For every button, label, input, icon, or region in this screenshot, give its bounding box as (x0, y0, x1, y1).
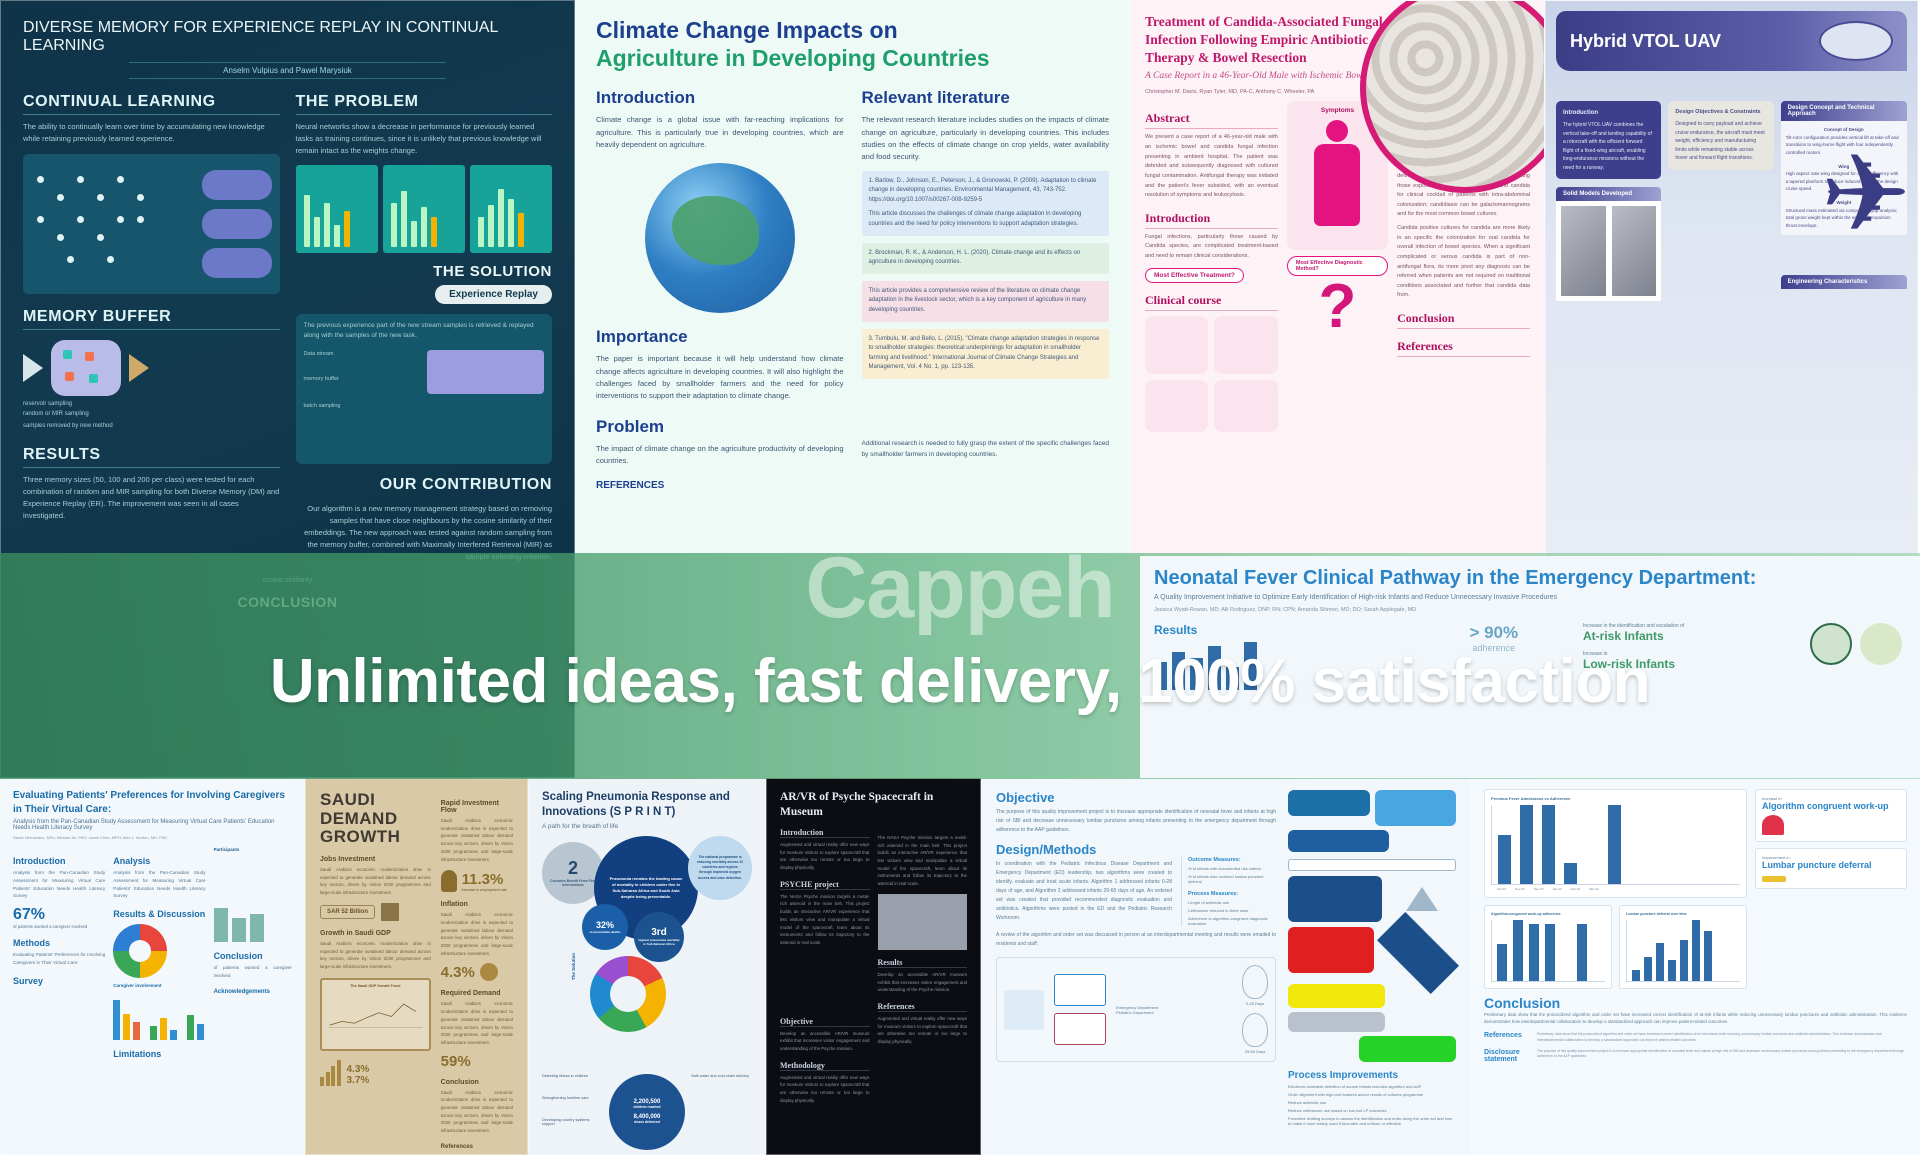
memory-out-label: random or MIR sampling (23, 410, 280, 420)
section-continual-learning: CONTINUAL LEARNING The ability to contin… (23, 93, 280, 563)
list-item: % of infants who received lumbar punctur… (1188, 874, 1276, 884)
icon-label: Detecting illness in children (542, 1074, 603, 1078)
section-body: Analysis from the Pan-Canadian Study Ass… (113, 869, 205, 900)
section-body: Evaluating Patients' Preferences for Inv… (13, 951, 105, 967)
chart-title: Previous Fever Admissions vs Adherence (1491, 796, 1740, 801)
stat-value: 59% (441, 1053, 513, 1070)
poster-arvr-psyche[interactable]: AR/VR of Psyche Spacecraft in Museum Int… (766, 778, 981, 1155)
airplane-icon: ✈ (1821, 151, 1912, 237)
memory-removed-label: samples removed by new method (23, 422, 280, 432)
section-heading: CONTINUAL LEARNING (23, 93, 280, 115)
section-heading: Clinical course (1145, 293, 1278, 311)
university-seal-icon (1819, 21, 1893, 61)
icon-label: Strengthening frontline care (542, 1096, 603, 1100)
reference-list: Preliminary data show that the protocoli… (1537, 1032, 1907, 1044)
section-heading: References (878, 1002, 968, 1012)
column-left: Abstract We present a case report of a 4… (1145, 101, 1278, 431)
section-body: Develop an accessible AR/VR museum exhib… (780, 1030, 870, 1053)
memory-in-label: reservoir sampling (23, 400, 280, 410)
stat-label: children reached (633, 1105, 660, 1109)
section-body: The ability to continually learn over ti… (23, 121, 280, 145)
section-heading: Methods (13, 938, 105, 948)
pipeline-diagram: The previous experience part of the new … (296, 314, 553, 464)
column-mid: Symptoms Most Effective Diagnostic Metho… (1287, 101, 1388, 431)
section-heading: THE SOLUTION (296, 263, 553, 280)
section-heading: Importance (596, 327, 844, 347)
person-icon (441, 870, 457, 892)
flow-node-caution (1288, 984, 1385, 1008)
list-item: % of infants with documented risk criter… (1188, 866, 1276, 871)
chart-lp-deferral: Lumbar puncture deferral over time (1619, 905, 1747, 989)
poster-title: SAUDI DEMAND GROWTH (320, 791, 431, 847)
subheading: Outcome Measures: (1188, 857, 1276, 863)
section-heading: Conclusion (441, 1079, 513, 1086)
flow-node-high-risk (1288, 927, 1374, 973)
age-band-label: 0-28 Days (1242, 1001, 1268, 1006)
section-heading: Survey (13, 976, 105, 986)
stat-value: 3.7% (347, 1075, 370, 1086)
section-body: of patients wanted a caregiver involved (214, 964, 292, 980)
subheading: Caregiver involvement (113, 983, 205, 988)
list-item: Order alignment with high-risk features … (1288, 1092, 1456, 1097)
line-chart: The Saudi GDP Growth Trend (320, 978, 431, 1051)
pie-chart (113, 924, 167, 978)
section-heading: Design Concept and Technical Approach (1781, 101, 1907, 121)
card-lumbar-puncture: Improvement in Lumbar puncture deferral (1755, 848, 1907, 888)
subheading: Process Measures: (1188, 891, 1276, 897)
section-body: Saudi Arabia's economic modernization dr… (441, 1000, 513, 1046)
poster-authors: Jessica Wyatt-Rowan, MD; Alli Rodriguez,… (1154, 607, 1906, 613)
section-heading: Design Objectives & Constraints (1675, 108, 1766, 117)
poster-neonatal-fever-main[interactable]: Objective The purpose of this quality im… (981, 778, 1471, 1155)
section-the-problem: THE PROBLEM Neural networks show a decre… (296, 93, 553, 563)
section-heading: Required Demand (441, 990, 513, 997)
reference-citation: 3. Tumbulu, M. and Bello, L. (2015). "Cl… (869, 335, 1103, 373)
section-heading: THE PROBLEM (296, 93, 553, 115)
poster-authors: Anselm Vulpius and Pawel Marysiuk (129, 62, 446, 79)
symptoms-panel: Symptoms (1287, 101, 1388, 250)
section-body: Saudi Arabia's economic modernization dr… (441, 911, 513, 957)
reference-entry: This article provides a comprehensive re… (862, 281, 1110, 322)
section-body: Saudi Arabia's economic modernization dr… (320, 940, 431, 971)
stat-value: 32% (596, 920, 614, 930)
section-heading: Conclusion (1397, 311, 1530, 329)
section-heading: MEMORY BUFFER (23, 308, 280, 330)
pathway-diagram: Emergency Department Pediatric Departmen… (996, 957, 1276, 1062)
flow-node (1288, 830, 1389, 852)
reference-note: This article provides a comprehensive re… (869, 287, 1103, 316)
poster-caregiver-preferences[interactable]: Evaluating Patients' Preferences for Inv… (0, 778, 305, 1155)
section-heading: Process Improvements (1288, 1070, 1456, 1081)
list-item: Reduce ceftriaxone use based on low-risk… (1288, 1108, 1456, 1113)
question-mark-icon: ? (1287, 276, 1388, 338)
task-bar-charts (296, 165, 553, 253)
poster-saudi-demand-growth[interactable]: SAUDI DEMAND GROWTH Jobs Investment Saud… (305, 778, 528, 1155)
section-heading: Acknowledgements (214, 989, 292, 995)
age-band-label: 29-60 Days (1242, 1049, 1268, 1054)
decision-icon (1406, 887, 1438, 911)
poster-title-line2: Agriculture in Developing Countries (596, 45, 1109, 73)
section-heading: Results (878, 958, 968, 968)
reference-citation: 2. Brockman, R. K., & Anderson, H. L. (2… (869, 249, 1103, 268)
section-heading: Introduction (1145, 211, 1278, 229)
poster-title-line2: Innovations (S P R I N T) (542, 805, 752, 820)
section-body: The NASA Psyche mission targets a metal-… (780, 893, 870, 947)
section-body: Analysis from the Pan-Canadian Study Ass… (13, 869, 105, 900)
network-diagram (23, 154, 280, 294)
section-heading: Growth in Saudi GDP (320, 930, 431, 937)
memory-buffer-label: memory buffer (304, 375, 421, 384)
column-left: Introduction Climate change is a global … (596, 88, 844, 496)
arrow-icon (23, 354, 43, 382)
question-tag-treatment[interactable]: Most Effective Treatment? (1145, 268, 1244, 283)
footer-note: Additional research is needed to fully g… (862, 439, 1110, 460)
section-heading: Disclosure statement (1484, 1049, 1530, 1063)
section-body: Augmented and virtual reality offer new … (780, 841, 870, 872)
stat-label: highest pneumonia mortality in Sub-Sahar… (634, 938, 684, 946)
section-body: Saudi Arabia's economic modernization dr… (320, 866, 431, 897)
section-body: Fungal infections, particularly those ca… (1145, 233, 1278, 262)
section-heading: Limitations (113, 1049, 205, 1059)
section-heading: Relevant literature (862, 88, 1110, 108)
poster-title: Hybrid VTOL UAV (1570, 31, 1721, 52)
flow-note (1288, 859, 1456, 871)
card-title: Lumbar puncture deferral (1762, 860, 1900, 870)
institution-seal-2 (1860, 623, 1902, 665)
mini-chart (296, 165, 378, 253)
section-heading: Results & Discussion (113, 909, 205, 919)
section-body: Augmented and virtual reality offer new … (878, 1015, 968, 1046)
section-heading: PSYCHE project (780, 880, 870, 890)
section-body: In coordination with the Pediatric Infec… (996, 860, 1172, 923)
introduction-panel: Introduction The hybrid VTOL UAV combine… (1556, 101, 1661, 179)
column-right: Relevant literature The relevant researc… (862, 88, 1110, 496)
chart-admissions: Previous Fever Admissions vs Adherence O… (1484, 789, 1747, 898)
section-body: The hybrid VTOL UAV combines the vertica… (1563, 121, 1654, 172)
chart-title: Lumbar puncture deferral over time (1626, 912, 1740, 916)
disclosure-text: The purpose of this quality improvement … (1537, 1049, 1907, 1063)
section-body: A review of the algorithm and order set … (996, 931, 1276, 949)
section-heading: Inflation (441, 901, 513, 908)
section-body: The relevant research literature include… (862, 114, 1110, 164)
axis-tick: Nov-23 (1515, 887, 1525, 891)
poster-title-line1: Scaling Pneumonia Response and (542, 790, 752, 805)
axis-tick: Feb-24 (1571, 887, 1581, 891)
section-body: Candida positive cultures for candida ar… (1397, 224, 1530, 301)
section-body: Climate change is a global issue with fa… (596, 114, 844, 151)
section-heading: Analysis (113, 856, 205, 866)
list-item: Reduce antibiotic use (1288, 1100, 1456, 1105)
section-heading: REFERENCES (596, 480, 844, 491)
section-body: Neural networks show a decrease in perfo… (296, 121, 553, 157)
section-body: We present a case report of a 46-year-ol… (1145, 133, 1278, 200)
poster-authors: Sarah Hernandez, MSc; Michael Ito, PhD; … (13, 835, 292, 840)
section-body: The previous experience part of the new … (296, 314, 553, 342)
section-heading: References (441, 1144, 513, 1150)
stat-value: 4.3% (441, 964, 475, 981)
icon-label: Developing country systems support (542, 1118, 603, 1126)
data-stream-label: Data stream (304, 350, 421, 359)
section-heading: Objective (780, 1017, 870, 1027)
section-heading: Solid Models Developed (1556, 187, 1661, 201)
section-body: Develop an accessible AR/VR museum exhib… (878, 971, 968, 994)
section-body: The NASA Psyche mission targets a metal-… (878, 834, 968, 888)
section-heading: Design/Methods (996, 842, 1276, 857)
list-item: Pediatric Department (1116, 1010, 1232, 1015)
clinical-card (1145, 380, 1208, 432)
reference-note: This article discusses the challenges of… (869, 210, 1103, 229)
section-body: Saudi Arabia's economic modernization dr… (441, 1089, 513, 1135)
clinical-card (1214, 316, 1277, 374)
section-heading: Conclusion (1484, 995, 1907, 1011)
section-heading: Jobs Investment (320, 856, 431, 863)
human-figure-icon (1298, 120, 1376, 238)
exhibit-photo (878, 894, 968, 950)
section-heading: Engineering Characteristics (1781, 275, 1907, 289)
poster-title: AR/VR of Psyche Spacecraft in Museum (780, 790, 967, 820)
globe-icon (480, 963, 498, 981)
list-item: Electronic orderable definition of sourc… (1288, 1084, 1456, 1089)
ring-label: The Solution (571, 953, 576, 980)
subheading: Participants (214, 847, 292, 852)
poster-gallery-screenshot: DIVERSE MEMORY FOR EXPERIENCE REPLAY IN … (0, 0, 1920, 1155)
poster-row-bottom: Evaluating Patients' Preferences for Inv… (0, 778, 1920, 1155)
stat-value: 3rd (651, 927, 667, 938)
stat-value: 11.3% (462, 871, 507, 888)
qr-icon (381, 903, 399, 921)
institution-seal-1 (1810, 623, 1852, 665)
list-item: Adherence to algorithm-congruent diagnos… (1188, 916, 1276, 926)
cad-render-1 (1560, 205, 1607, 297)
globe-illustration (645, 163, 795, 313)
section-body: Augmented and virtual reality offer new … (780, 1074, 870, 1105)
poster-subtitle: A path for the breath of life (542, 823, 752, 830)
stat-value: 67% (13, 906, 105, 924)
section-heading: References (1484, 1032, 1530, 1044)
clinical-card (1214, 380, 1277, 432)
poster-sprint-pneumonia[interactable]: Scaling Pneumonia Response and Innovatio… (528, 778, 766, 1155)
poster-neonatal-fever-results[interactable]: Previous Fever Admissions vs Adherence O… (1471, 778, 1920, 1155)
section-body: Preliminary data show that the protocoli… (1484, 1011, 1907, 1026)
stat-label: of patients wanted a caregiver involved (13, 924, 105, 929)
section-heading: Objective (996, 790, 1276, 805)
highlight-text: The national programme is reducing morta… (696, 855, 744, 881)
stat-value: > 90% (1419, 623, 1569, 643)
objectives-panel: Design Objectives & Constraints Designed… (1668, 101, 1773, 170)
syringe-icon (1762, 876, 1786, 882)
poster-header: Hybrid VTOL UAV (1556, 11, 1907, 71)
list-item: Ceftriaxone reduced to three uses (1188, 908, 1276, 913)
section-heading: Results (1154, 623, 1405, 637)
clinical-card (1145, 316, 1208, 374)
axis-tick: Dec-23 (1534, 887, 1544, 891)
algorithm-card-2 (1054, 1013, 1106, 1045)
stat-label: doses delivered (634, 1120, 660, 1124)
section-heading: Methodology (780, 1061, 870, 1071)
highlight-text: Pneumonia remains the leading cause of m… (608, 876, 684, 900)
chart-workup: Algorithm-congruent work-up adherence (1484, 905, 1612, 989)
reference-entry: 3. Tumbulu, M. and Bello, L. (2015). "Cl… (862, 329, 1110, 379)
reference-entry: 1. Barlow, D., Johnson, E., Peterson, J.… (862, 171, 1110, 236)
section-heading: Rapid Investment Flow (441, 800, 513, 814)
flow-node (1288, 876, 1382, 922)
section-body: Three memory sizes (50, 100 and 200 per … (23, 474, 280, 522)
infant-icon (1242, 965, 1268, 999)
chart-title: Algorithm-congruent work-up adherence (1491, 912, 1605, 916)
badge-capital: SAR 52 Billion (320, 905, 375, 919)
reference-citation: 1. Barlow, D., Johnson, E., Peterson, J.… (869, 177, 1103, 206)
section-body: Saudi Arabia's economic modernization dr… (441, 817, 513, 863)
cappeh-watermark: Cappeh (805, 539, 1114, 638)
section-heading: Conclusion (214, 951, 292, 961)
poster-title-line1: Climate Change Impacts on (596, 17, 1109, 45)
heart-icon (1762, 815, 1784, 835)
section-body: Designed to carry payload and achieve cr… (1675, 120, 1766, 163)
section-heading: Introduction (13, 856, 105, 866)
section-the-solution: THE SOLUTION Experience Replay (296, 263, 553, 304)
section-body: The paper is important because it will h… (596, 353, 844, 403)
section-heading: Problem (596, 417, 844, 437)
section-heading: RESULTS (23, 446, 280, 468)
mini-chart (470, 165, 552, 253)
list-item: Formative drafting surveys to assess the… (1288, 1116, 1456, 1126)
promo-headline: Unlimited ideas, fast delivery, 100% sat… (270, 646, 1650, 717)
axis-tick: Oct-23 (1497, 887, 1506, 891)
stat-label: of preventable deaths (589, 930, 620, 934)
algorithm-card-1 (1054, 974, 1106, 1006)
ring-chart (590, 956, 666, 1032)
poster-title: DIVERSE MEMORY FOR EXPERIENCE REPLAY IN … (23, 19, 552, 55)
card-algorithm-workup: Increase in Algorithm congruent work-up (1755, 789, 1907, 842)
section-heading: OUR CONTRIBUTION (296, 476, 553, 497)
experience-replay-chip[interactable]: Experience Replay (435, 285, 552, 304)
section-heading: Introduction (596, 88, 844, 108)
flow-node (1375, 790, 1457, 826)
flow-node-neutral (1288, 1012, 1385, 1032)
card-title: Algorithm congruent work-up (1762, 801, 1900, 811)
poster-title: Evaluating Patients' Preferences for Inv… (13, 789, 292, 816)
poster-title: Treatment of Candida-Associated Fungal I… (1145, 13, 1399, 66)
department-icon (1004, 990, 1044, 1030)
chart-svg (326, 988, 425, 1040)
section-body: The impact of climate change on the agri… (596, 443, 844, 468)
section-body: The purpose of this quality improvement … (996, 808, 1276, 835)
icon-label: Safe water and cold-chain delivery (691, 1074, 752, 1078)
list-item: Length of antibiotic use (1188, 900, 1276, 905)
axis-tick: Jan-24 (1552, 887, 1561, 891)
section-heading: Introduction (780, 828, 870, 838)
reference-entry: 2. Brockman, R. K., & Anderson, H. L. (2… (862, 243, 1110, 274)
cad-render-2 (1611, 205, 1658, 297)
stat-value: 2 (568, 858, 578, 879)
batch-sampling-label: batch sampling (296, 402, 553, 411)
flow-node-low-risk (1359, 1036, 1456, 1062)
section-heading: References (1397, 339, 1530, 357)
at-risk-label: At-risk Infants (1583, 629, 1796, 643)
infant-icon (1242, 1013, 1268, 1047)
section-heading: Abstract (1145, 111, 1278, 129)
flow-node (1288, 790, 1370, 816)
stat-label: increase in employment rate (462, 888, 507, 892)
poster-subtitle: A Quality Improvement Initiative to Opti… (1154, 594, 1906, 601)
decision-diamond (1377, 912, 1459, 994)
section-heading: Introduction (1563, 108, 1654, 118)
memory-buffer-diagram (23, 340, 280, 396)
mini-chart (383, 165, 465, 253)
poster-subtitle: Analysis from the Pan-Canadian Study Ass… (13, 819, 292, 831)
axis-tick: Mar-24 (1589, 887, 1599, 891)
poster-title: Neonatal Fever Clinical Pathway in the E… (1154, 566, 1906, 590)
stat-value: 4.3% (347, 1064, 370, 1075)
